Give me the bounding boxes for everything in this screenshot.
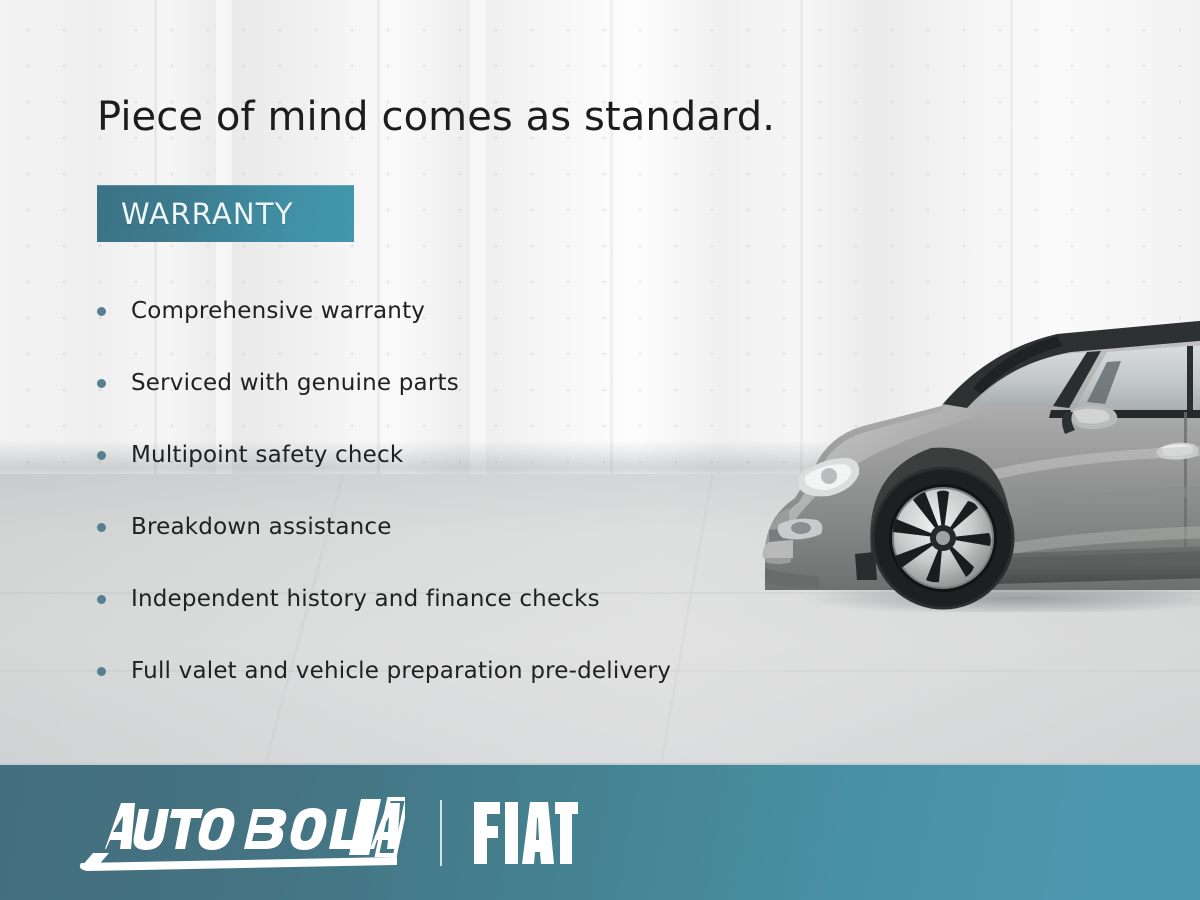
slide-canvas: Piece of mind comes as standard. WARRANT…	[0, 0, 1200, 900]
bullet-dot-icon	[97, 307, 106, 316]
list-item: Independent history and finance checks	[97, 563, 857, 635]
list-item-label: Comprehensive warranty	[131, 298, 425, 324]
auto-boland-logo	[75, 793, 405, 871]
list-item: Serviced with genuine parts	[97, 347, 857, 419]
bullet-dot-icon	[97, 667, 106, 676]
list-item: Multipoint safety check	[97, 419, 857, 491]
warranty-badge-label: WARRANTY	[97, 197, 294, 231]
warranty-badge: WARRANTY	[97, 185, 354, 242]
list-item: Comprehensive warranty	[97, 275, 857, 347]
list-item-label: Full valet and vehicle preparation pre-d…	[131, 658, 671, 684]
bullet-dot-icon	[97, 451, 106, 460]
bullet-dot-icon	[97, 379, 106, 388]
logo-divider	[440, 800, 442, 866]
list-item-label: Independent history and finance checks	[131, 586, 600, 612]
list-item-label: Multipoint safety check	[131, 442, 403, 468]
list-item-label: Breakdown assistance	[131, 514, 392, 540]
bullet-dot-icon	[97, 595, 106, 604]
benefits-list: Comprehensive warranty Serviced with gen…	[97, 275, 857, 707]
fiat-logo	[472, 800, 578, 866]
list-item-label: Serviced with genuine parts	[131, 370, 459, 396]
list-item: Breakdown assistance	[97, 491, 857, 563]
bullet-dot-icon	[97, 523, 106, 532]
page-title: Piece of mind comes as standard.	[97, 95, 775, 139]
list-item: Full valet and vehicle preparation pre-d…	[97, 635, 857, 707]
